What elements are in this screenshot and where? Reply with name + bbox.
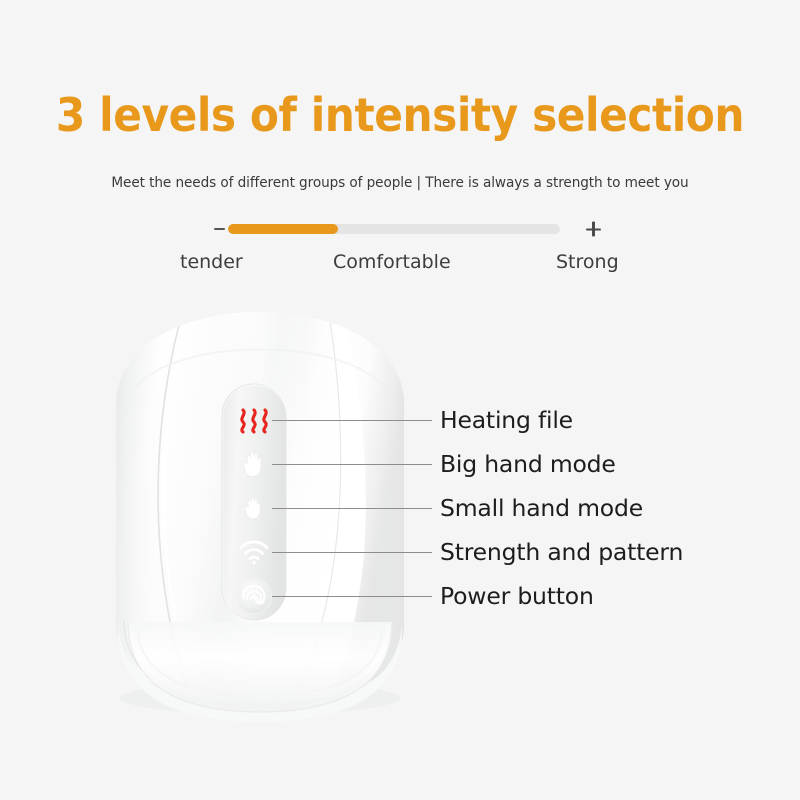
minus-icon[interactable] <box>214 228 225 230</box>
device-image <box>70 300 450 730</box>
slider-label-comfortable[interactable]: Comfortable <box>333 251 451 273</box>
page-subtitle: Meet the needs of different groups of pe… <box>24 175 776 191</box>
callout-power-button: Power button <box>440 582 594 610</box>
slider-label-strong[interactable]: Strong <box>556 251 619 273</box>
power-fingerprint-icon[interactable] <box>237 579 272 614</box>
page-title: 3 levels of intensity selection <box>32 92 768 138</box>
product-infographic: 3 levels of intensity selection Meet the… <box>0 0 800 800</box>
callout-small-hand-mode: Small hand mode <box>440 494 643 522</box>
hand-massager-illustration <box>70 300 450 730</box>
callout-heating-file: Heating file <box>440 406 573 434</box>
intensity-slider[interactable] <box>228 219 574 239</box>
slider-track[interactable] <box>228 224 560 234</box>
slider-label-tender[interactable]: tender <box>180 251 243 273</box>
slider-fill <box>228 224 338 234</box>
callout-big-hand-mode: Big hand mode <box>440 450 616 478</box>
callout-strength-and-pattern: Strength and pattern <box>440 538 683 566</box>
plus-icon[interactable] <box>586 222 601 237</box>
slider-level-labels: tender Comfortable Strong <box>150 251 670 279</box>
